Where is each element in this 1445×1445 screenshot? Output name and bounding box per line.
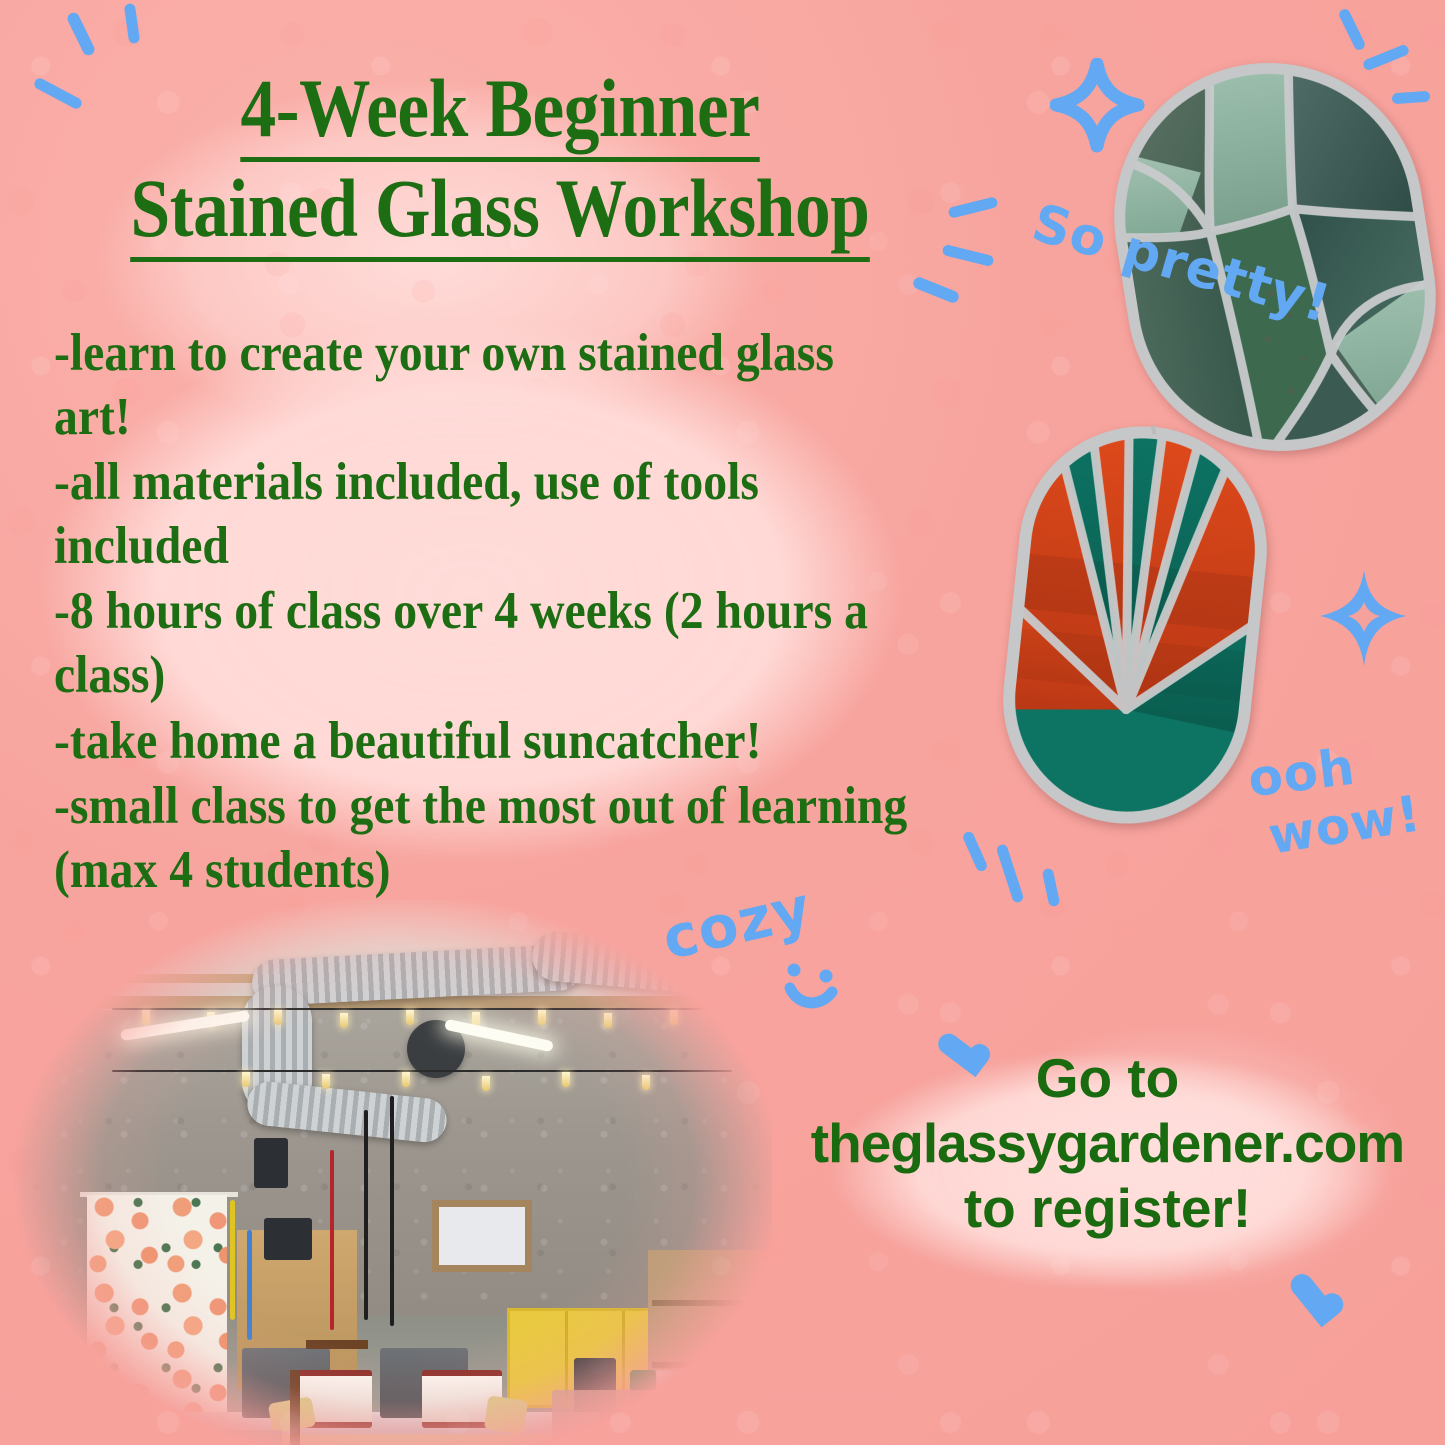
sparkle-dashes-icon: [920, 180, 1045, 305]
basement-window: [432, 1200, 532, 1272]
sparkle-icon: [1312, 566, 1412, 671]
smiley-face-icon: [782, 958, 844, 1016]
cta-line-3: to register!: [770, 1176, 1445, 1241]
title-line-2: Stained Glass Workshop: [130, 162, 869, 262]
cta-website-url[interactable]: theglassygardener.com: [770, 1111, 1445, 1176]
registration-callout: Go to theglassygardener.com to register!: [770, 1046, 1445, 1241]
cta-line-1: Go to: [770, 1046, 1445, 1111]
bullet-item: -learn to create your own stained glass …: [54, 322, 909, 449]
poster-canvas: 4-Week Beginner Stained Glass Workshop -…: [0, 0, 1445, 1445]
suncatcher-sunrise-sunburst: [990, 413, 1280, 837]
annotation-ooh: ooh: [1245, 742, 1358, 805]
sparkle-dashes-icon: [940, 840, 1075, 975]
workshop-photo: [0, 900, 772, 1445]
heart-icon: [935, 1029, 979, 1073]
workshop-details-list: -learn to create your own stained glass …: [54, 322, 909, 904]
title-line-1: 4-Week Beginner: [241, 62, 760, 162]
bullet-item: -all materials included, use of tools in…: [54, 451, 909, 578]
workshop-photo-scene: [0, 900, 772, 1445]
heart-icon: [1286, 1272, 1333, 1319]
page-title: 4-Week Beginner Stained Glass Workshop: [70, 62, 930, 262]
bullet-item: -take home a beautiful suncatcher!: [54, 710, 909, 774]
bullet-item: -8 hours of class over 4 weeks (2 hours …: [54, 580, 909, 707]
floral-curtain: [87, 1195, 227, 1445]
